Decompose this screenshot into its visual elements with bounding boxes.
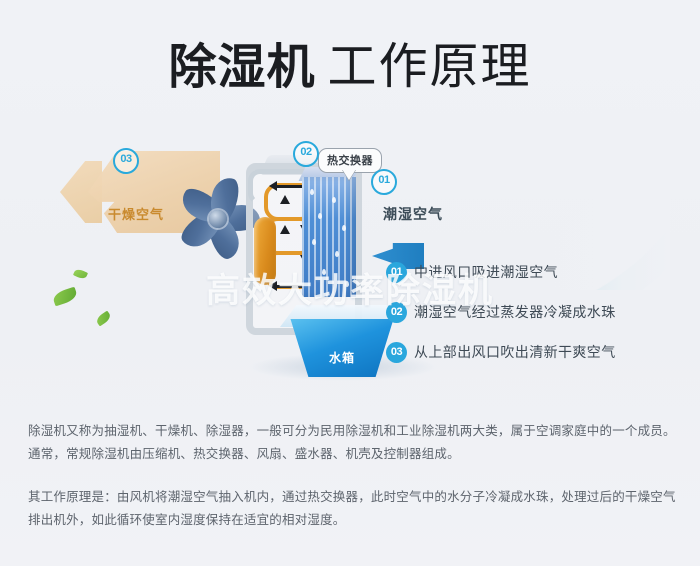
page-title: 除湿机工作原理 (0, 27, 700, 98)
step-number: 02 (386, 302, 407, 323)
diagram-badge-03: 03 (113, 148, 139, 174)
body-copy: 除湿机又称为抽湿机、干燥机、除湿器，一般可分为民用除湿机和工业除湿机两大类，属于… (28, 420, 678, 532)
diagram-badge-01: 01 (371, 169, 397, 195)
body-paragraph-2: 其工作原理是：由风机将潮湿空气抽入机内，通过热交换器，此时空气中的水分子冷凝成水… (28, 486, 678, 532)
humid-air-label: 潮湿空气 (383, 204, 443, 224)
callout-tail (342, 169, 356, 180)
leaf-icon (95, 311, 112, 327)
compressor-cylinder (254, 217, 276, 285)
water-tank-label: 水箱 (286, 349, 398, 366)
body-paragraph-1: 除湿机又称为抽湿机、干燥机、除湿器，一般可分为民用除湿机和工业除湿机两大类，属于… (28, 420, 678, 466)
step-text: 中进风口吸进潮湿空气 (414, 262, 558, 282)
list-item: 02 潮湿空气经过蒸发器冷凝成水珠 (386, 292, 686, 332)
step-number: 03 (386, 342, 407, 363)
water-tank-body (286, 319, 398, 377)
evaporator-fins (302, 177, 356, 297)
page-title-primary: 除湿机 (168, 41, 315, 94)
condenser-coil (254, 181, 308, 293)
leaf-icon (73, 268, 88, 281)
page-title-secondary: 工作原理 (328, 40, 532, 94)
heat-exchanger-callout: 热交换器 (318, 148, 382, 173)
leaf-icon (52, 287, 79, 307)
step-number: 01 (386, 262, 407, 283)
water-tank: 水箱 (286, 305, 398, 377)
list-item: 01 中进风口吸进潮湿空气 (386, 252, 686, 292)
step-list: 01 中进风口吸进潮湿空气 02 潮湿空气经过蒸发器冷凝成水珠 03 从上部出风… (386, 252, 686, 372)
step-text: 潮湿空气经过蒸发器冷凝成水珠 (414, 302, 616, 322)
list-item: 03 从上部出风口吹出清新干爽空气 (386, 332, 686, 372)
infographic-page: 除湿机工作原理 干燥空气 (0, 0, 700, 566)
dry-air-label: 干燥空气 (108, 204, 164, 223)
diagram-badge-02: 02 (293, 141, 319, 167)
step-text: 从上部出风口吹出清新干爽空气 (414, 342, 616, 362)
